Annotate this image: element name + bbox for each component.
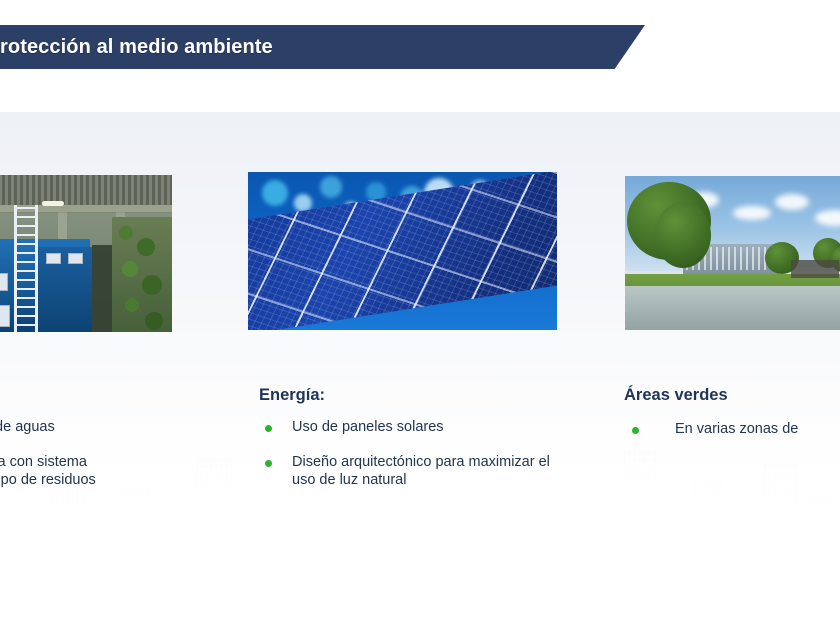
column-energia-list: Uso de paneles solares Diseño arquitectó… <box>259 419 559 490</box>
list-item: Uso de paneles solares <box>259 419 559 437</box>
list-item-text: Uso de paneles solares <box>292 419 444 435</box>
column-areas-verdes-title: Áreas verdes <box>624 386 840 405</box>
slide: rotección al medio ambiente <box>0 0 840 630</box>
photo-water-treatment-plant <box>0 175 172 332</box>
list-item: dora de aguas <box>0 419 192 437</box>
list-item-text: dora de aguas <box>0 419 55 435</box>
column-areas-verdes: Áreas verdes En varias zonas de <box>624 386 840 456</box>
photo-solar-panels <box>248 172 557 330</box>
column-residuos: idos dora de aguas cuenta con sistema fi… <box>0 386 192 507</box>
list-item-text-line-1: cuenta con sistema <box>0 454 87 470</box>
column-energia-title: Energía: <box>259 386 559 405</box>
list-item: cuenta con sistema ficar tipo de residuo… <box>0 454 192 490</box>
list-item: En varias zonas de <box>624 421 840 439</box>
column-areas-verdes-list: En varias zonas de <box>624 421 840 439</box>
list-item-text-line-2: ficar tipo de residuos <box>0 472 96 488</box>
bullet-dot-icon <box>632 427 639 434</box>
bullet-dot-icon <box>265 425 272 432</box>
column-residuos-title: idos <box>0 386 192 405</box>
header-banner: rotección al medio ambiente <box>0 25 645 69</box>
column-residuos-list: dora de aguas cuenta con sistema ficar t… <box>0 419 192 490</box>
page-title: rotección al medio ambiente <box>0 36 273 59</box>
list-item-text: En varias zonas de <box>675 421 798 437</box>
column-energia: Energía: Uso de paneles solares Diseño a… <box>259 386 559 507</box>
photo-green-areas <box>625 176 840 330</box>
bullet-dot-icon <box>265 460 272 467</box>
list-item: Diseño arquitectónico para maximizar el … <box>259 454 559 490</box>
list-item-text: Diseño arquitectónico para maximizar el … <box>292 454 550 488</box>
